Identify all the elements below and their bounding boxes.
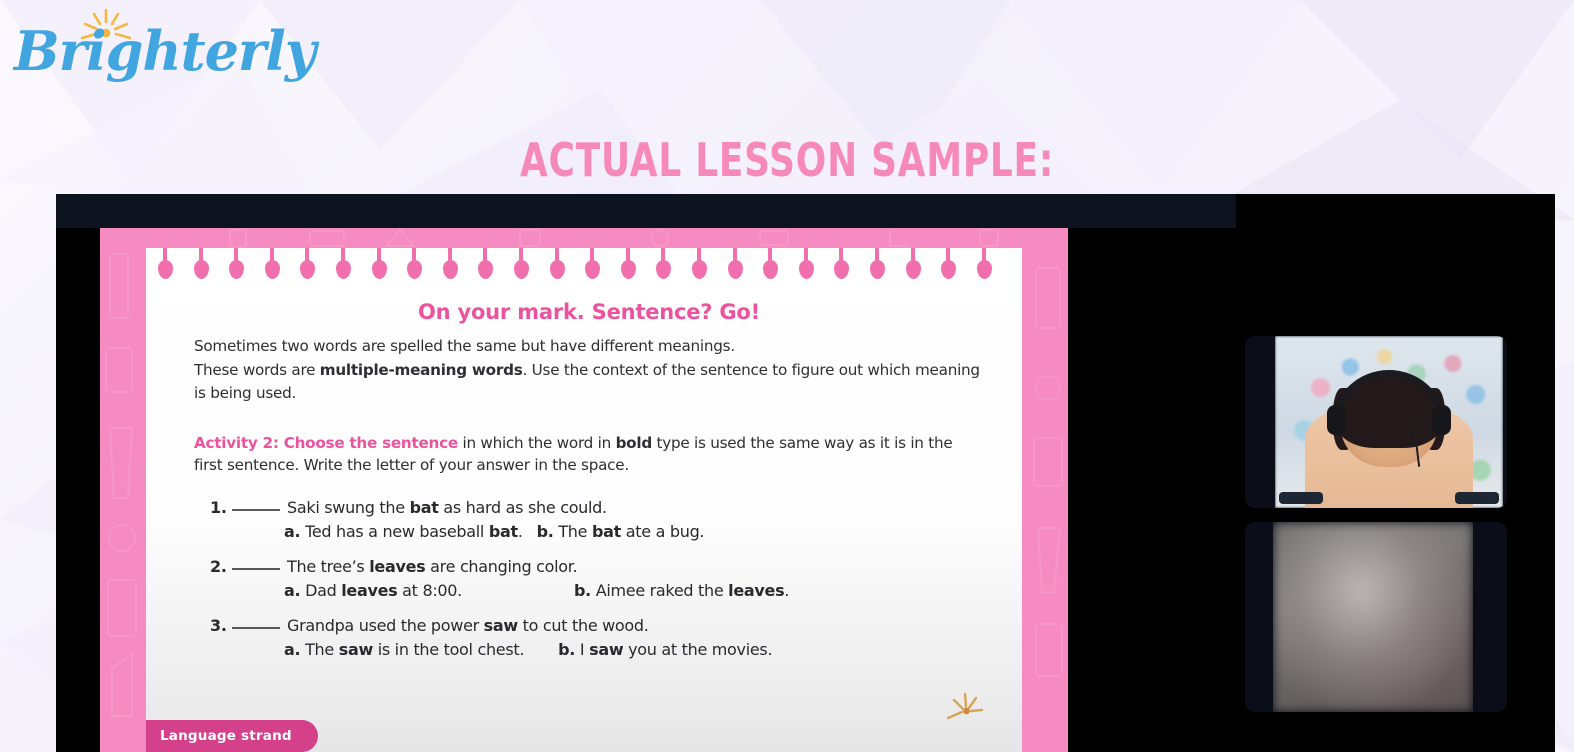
worksheet-page: On your mark. Sentence? Go! Sometimes tw… — [146, 248, 1022, 752]
option-a-post: at 8:00. — [397, 581, 462, 600]
option-b-post: you at the movies. — [623, 640, 772, 659]
worksheet-content: On your mark. Sentence? Go! Sometimes tw… — [194, 300, 984, 675]
option-b[interactable]: b. I saw you at the movies. — [558, 640, 772, 659]
option-a-post: . — [518, 522, 523, 541]
option-b-post: . — [784, 581, 789, 600]
question-item: 1.Saki swung the bat as hard as she coul… — [194, 498, 984, 541]
headset-earcup-left — [1327, 405, 1346, 435]
activity-lead: Activity 2: Choose the sentence — [194, 434, 458, 452]
desk-object-left — [1279, 492, 1323, 504]
screen: Brighterly ACTUAL LESSON SAMPLE: — [0, 0, 1574, 752]
option-a-pre: Dad — [300, 581, 341, 600]
option-a-keyword: bat — [489, 522, 518, 541]
activity-mid-pre: in which the word in — [458, 434, 616, 452]
intro-line-2: These words are multiple-meaning words. … — [194, 359, 984, 406]
question-options: a. Dad leaves at 8:00.b. Aimee raked the… — [210, 581, 984, 600]
question-list: 1.Saki swung the bat as hard as she coul… — [194, 498, 984, 659]
prompt-pre: Grandpa used the power — [287, 616, 484, 635]
shared-slide[interactable]: On your mark. Sentence? Go! Sometimes tw… — [100, 228, 1068, 752]
question-options: a. Ted has a new baseball bat.b. The bat… — [210, 522, 984, 541]
question-prompt: 1.Saki swung the bat as hard as she coul… — [210, 498, 984, 517]
intro-line-1: Sometimes two words are spelled the same… — [194, 335, 984, 359]
option-b-keyword: bat — [592, 522, 621, 541]
option-a-keyword: saw — [339, 640, 373, 659]
answer-blank[interactable] — [232, 557, 280, 570]
option-a-post: is in the tool chest. — [373, 640, 524, 659]
option-b-label: b. — [558, 640, 575, 659]
status-badge: Language strand — [146, 720, 318, 752]
option-a-label: a. — [284, 522, 300, 541]
question-item: 3.Grandpa used the power saw to cut the … — [194, 616, 984, 659]
question-prompt: 2.The tree’s leaves are changing color. — [210, 557, 984, 576]
page-title: ACTUAL LESSON SAMPLE: — [173, 133, 1401, 187]
blurred-video-feed — [1273, 522, 1473, 712]
video-stage: On your mark. Sentence? Go! Sometimes tw… — [56, 194, 1555, 752]
option-a-pre: The — [300, 640, 338, 659]
answer-blank[interactable] — [232, 498, 280, 511]
prompt-keyword: bat — [410, 498, 439, 517]
option-b-pre: I — [575, 640, 589, 659]
option-a[interactable]: a. The saw is in the tool chest. — [284, 640, 524, 659]
student-video-frame — [1273, 522, 1473, 712]
question-prompt: 3.Grandpa used the power saw to cut the … — [210, 616, 984, 635]
option-a-pre: Ted has a new baseball — [300, 522, 489, 541]
prompt-pre: Saki swung the — [287, 498, 410, 517]
prompt-pre: The tree’s — [287, 557, 369, 576]
teacher-video-frame — [1275, 336, 1503, 508]
option-b-keyword: saw — [589, 640, 623, 659]
option-b-keyword: leaves — [728, 581, 784, 600]
activity-instructions: Activity 2: Choose the sentence in which… — [194, 432, 984, 476]
option-a-label: a. — [284, 640, 300, 659]
option-b-label: b. — [574, 581, 591, 600]
teacher-video-tile[interactable] — [1245, 336, 1507, 508]
spiral-binding — [146, 248, 1022, 294]
brand-name: Brighterly — [14, 24, 315, 78]
option-a[interactable]: a. Dad leaves at 8:00. — [284, 581, 462, 600]
desk-object-right — [1455, 492, 1499, 504]
page-sunburst-icon — [942, 690, 986, 730]
worksheet-intro: Sometimes two words are spelled the same… — [194, 335, 984, 406]
student-video-tile[interactable] — [1245, 522, 1507, 712]
stage-top-bar — [56, 194, 1236, 228]
option-b-post: ate a bug. — [621, 522, 704, 541]
prompt-post: are changing color. — [425, 557, 577, 576]
prompt-post: to cut the wood. — [518, 616, 649, 635]
option-b-label: b. — [537, 522, 554, 541]
question-number: 2. — [210, 557, 232, 576]
question-number: 3. — [210, 616, 232, 635]
option-a-keyword: leaves — [341, 581, 397, 600]
option-b-pre: The — [554, 522, 592, 541]
headset-earcup-right — [1432, 405, 1451, 435]
option-b[interactable]: b. Aimee raked the leaves. — [574, 581, 789, 600]
answer-blank[interactable] — [232, 616, 280, 629]
prompt-keyword: saw — [484, 616, 518, 635]
activity-bold-word: bold — [616, 434, 652, 452]
question-item: 2.The tree’s leaves are changing color.a… — [194, 557, 984, 600]
question-options: a. The saw is in the tool chest.b. I saw… — [210, 640, 984, 659]
option-a[interactable]: a. Ted has a new baseball bat. — [284, 522, 523, 541]
question-number: 1. — [210, 498, 232, 517]
intro-term-bold: multiple-meaning words — [320, 361, 523, 379]
option-a-label: a. — [284, 581, 300, 600]
prompt-post: as hard as she could. — [439, 498, 607, 517]
worksheet-title: On your mark. Sentence? Go! — [194, 300, 984, 324]
option-b-pre: Aimee raked the — [591, 581, 728, 600]
prompt-keyword: leaves — [369, 557, 425, 576]
brand-logo[interactable]: Brighterly — [14, 8, 284, 104]
intro-line-2-pre: These words are — [194, 361, 320, 379]
option-b[interactable]: b. The bat ate a bug. — [537, 522, 705, 541]
